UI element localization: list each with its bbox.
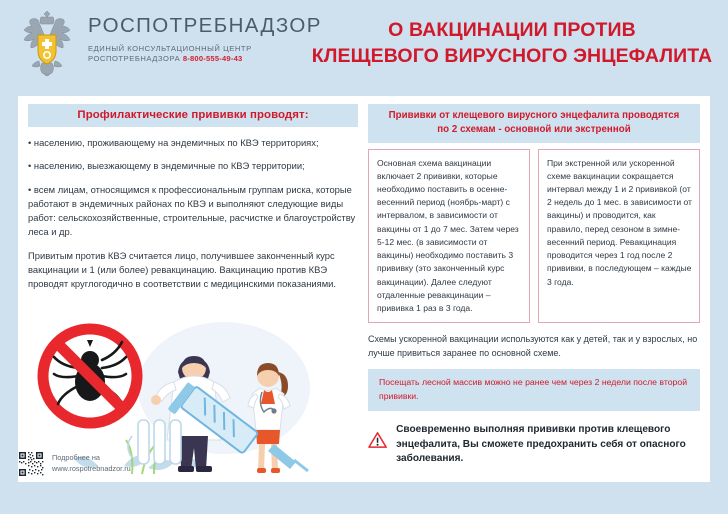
indications-bullet-list: • населению, проживающему на эндемичных … xyxy=(28,136,358,240)
hotline-phone: 8-800-555-49-43 xyxy=(183,54,243,63)
page-title: О ВАКЦИНАЦИИ ПРОТИВ КЛЕЩЕВОГО ВИРУСНОГО … xyxy=(300,18,724,69)
list-item: • всем лицам, относящимся к профессионал… xyxy=(28,183,358,240)
right-column: Прививки от клещевого вирусного энцефали… xyxy=(368,104,700,476)
vaccinated-definition-paragraph: Привитым против КВЭ считается лицо, полу… xyxy=(28,249,358,292)
list-item: • населению, выезжающему в эндемичные по… xyxy=(28,159,358,173)
left-column: Профилактические прививки проводят: • на… xyxy=(28,104,358,476)
footer-text: Подробнее на www.rospotrebnadzor.ru xyxy=(52,453,131,475)
organization-subtitle: ЕДИНЫЙ КОНСУЛЬТАЦИОННЫЙ ЦЕНТР РОСПОТРЕБН… xyxy=(88,44,322,66)
right-section-heading: Прививки от клещевого вирусного энцефали… xyxy=(368,104,700,143)
qr-code[interactable] xyxy=(18,451,44,477)
more-info-label: Подробнее на xyxy=(52,453,131,464)
warning-block: Своевременно выполняя прививки против кл… xyxy=(368,422,700,467)
basic-scheme-box: Основная схема вакцинации включает 2 при… xyxy=(368,149,530,324)
bottom-strip xyxy=(0,482,728,514)
vaccination-schemes-row: Основная схема вакцинации включает 2 при… xyxy=(368,149,700,324)
organization-block: РОСПОТРЕБНАДЗОР ЕДИНЫЙ КОНСУЛЬТАЦИОННЫЙ … xyxy=(88,16,322,65)
page-title-line1: О ВАКЦИНАЦИИ ПРОТИВ xyxy=(300,18,724,44)
poster-header: РОСПОТРЕБНАДЗОР ЕДИНЫЙ КОНСУЛЬТАЦИОННЫЙ … xyxy=(0,0,728,92)
rospotrebnadzor-emblem-icon xyxy=(8,6,86,86)
list-item: • населению, проживающему на эндемичных … xyxy=(28,136,358,150)
organization-name: РОСПОТРЕБНАДЗОР xyxy=(88,16,322,37)
exclamation-triangle-icon xyxy=(368,422,387,458)
emergency-scheme-box: При экстренной или ускоренной схеме вакц… xyxy=(538,149,700,324)
right-heading-line2: по 2 схемам - основной или экстренной xyxy=(374,123,694,137)
accelerated-scheme-note: Схемы ускоренной вакцинации используются… xyxy=(368,333,700,361)
website-link[interactable]: www.rospotrebnadzor.ru xyxy=(52,464,131,475)
right-heading-line1: Прививки от клещевого вирусного энцефали… xyxy=(374,109,694,123)
left-section-heading: Профилактические прививки проводят: xyxy=(28,104,358,127)
org-genitive-name: РОСПОТРЕБНАДЗОРА xyxy=(88,54,180,63)
poster-root: РОСПОТРЕБНАДЗОР ЕДИНЫЙ КОНСУЛЬТАЦИОННЫЙ … xyxy=(0,0,728,514)
no-tick-prohibition-icon xyxy=(40,326,140,426)
warning-text: Своевременно выполняя прививки против кл… xyxy=(396,422,700,467)
content-card: Профилактические прививки проводят: • на… xyxy=(18,96,710,482)
org-sub-second-line: РОСПОТРЕБНАДЗОРА 8-800-555-49-43 xyxy=(88,54,322,65)
forest-visit-highlight: Посещать лесной массив можно не ранее че… xyxy=(368,369,700,411)
footer-block: Подробнее на www.rospotrebnadzor.ru xyxy=(18,446,258,482)
consult-center-line: ЕДИНЫЙ КОНСУЛЬТАЦИОННЫЙ ЦЕНТР xyxy=(88,44,322,55)
page-title-line2: КЛЕЩЕВОГО ВИРУСНОГО ЭНЦЕФАЛИТА xyxy=(300,44,724,70)
